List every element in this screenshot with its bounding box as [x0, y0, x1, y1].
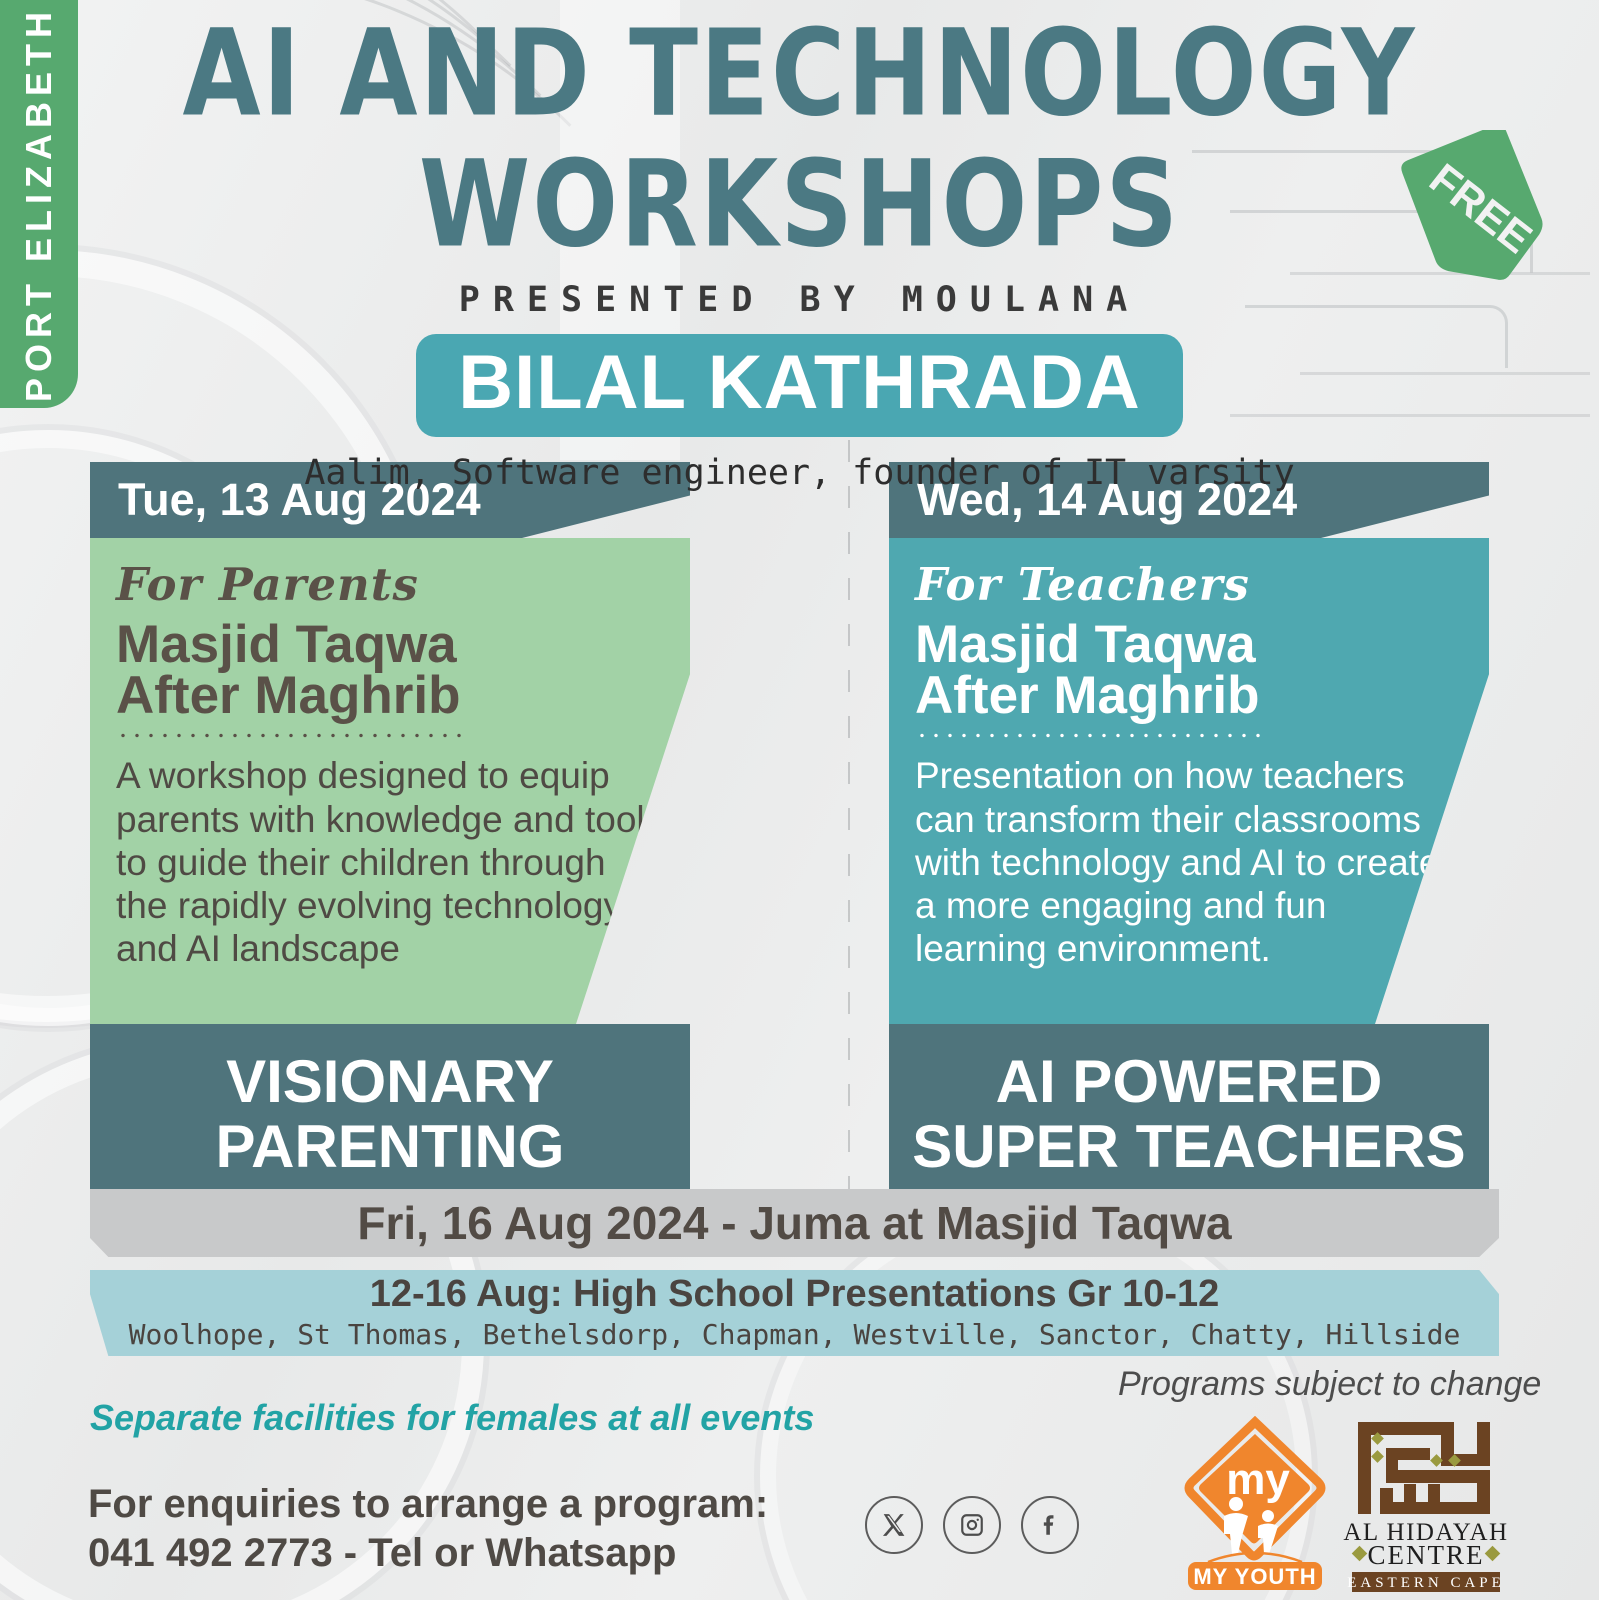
card-footer-line-1-parents: VISIONARY — [100, 1050, 680, 1115]
speaker-credentials: Aalim, Software engineer, founder of IT … — [0, 453, 1599, 493]
instagram-icon[interactable] — [943, 1496, 1001, 1554]
speaker-badge-wrap: BILAL KATHRADA — [0, 334, 1599, 437]
card-venue-line-2-teachers: After Maghrib — [915, 668, 1463, 723]
card-audience-parents: For Parents — [116, 558, 664, 611]
card-footer-parents: VISIONARY PARENTING — [90, 1024, 690, 1210]
al-hidayah-line-3: EASTERN CAPE — [1347, 1575, 1505, 1591]
separate-facilities-note: Separate facilities for females at all e… — [90, 1397, 814, 1439]
card-footer-line-1-teachers: AI POWERED — [899, 1050, 1479, 1115]
card-divider-parents — [116, 733, 471, 738]
card-body-parents: For Parents Masjid Taqwa After Maghrib A… — [90, 538, 690, 1024]
card-venue-line-2-parents: After Maghrib — [116, 668, 664, 723]
social-links — [865, 1496, 1079, 1554]
enquiry-line-2: 041 492 2773 - Tel or Whatsapp — [88, 1529, 768, 1578]
banner-juma-text: Fri, 16 Aug 2024 - Juma at Masjid Taqwa — [357, 1196, 1231, 1250]
my-youth-logo: my MY YOUTH — [1180, 1416, 1330, 1592]
x-twitter-icon[interactable] — [865, 1496, 923, 1554]
card-body-teachers: For Teachers Masjid Taqwa After Maghrib … — [889, 538, 1489, 1024]
card-venue-line-1-parents: Masjid Taqwa — [116, 617, 664, 672]
background-dashed-line — [848, 440, 850, 1200]
poster-header: AI AND TECHNOLOGY WORKSHOPS PRESENTED BY… — [0, 0, 1599, 493]
banner-school-presentations: 12-16 Aug: High School Presentations Gr … — [90, 1270, 1499, 1356]
banner-schools-headline: 12-16 Aug: High School Presentations Gr … — [370, 1275, 1220, 1315]
poster-title-line-1: AI AND TECHNOLOGY — [0, 14, 1599, 133]
card-venue-line-1-teachers: Masjid Taqwa — [915, 617, 1463, 672]
card-audience-teachers: For Teachers — [915, 558, 1463, 611]
banner-juma: Fri, 16 Aug 2024 - Juma at Masjid Taqwa — [90, 1189, 1499, 1257]
free-badge: FREE — [1392, 130, 1562, 292]
card-divider-teachers — [915, 733, 1270, 738]
poster-title-line-2: WORKSHOPS — [0, 145, 1599, 264]
card-footer-line-2-parents: PARENTING — [100, 1115, 680, 1180]
my-youth-wordmark: MY YOUTH — [1193, 1564, 1316, 1589]
programs-disclaimer: Programs subject to change — [1118, 1365, 1541, 1404]
presented-by-label: PRESENTED BY MOULANA — [0, 280, 1599, 320]
city-tab: PORT ELIZABETH — [0, 0, 78, 408]
workshop-card-teachers: Wed, 14 Aug 2024 For Teachers Masjid Taq… — [889, 462, 1489, 1210]
event-poster: PORT ELIZABETH AI AND TECHNOLOGY WORKSHO… — [0, 0, 1599, 1600]
card-description-teachers: Presentation on how teachers can transfo… — [915, 754, 1463, 970]
speaker-name-badge: BILAL KATHRADA — [416, 334, 1182, 437]
al-hidayah-centre-logo: AL HIDAYAH CENTRE EASTERN CAPE — [1340, 1412, 1512, 1592]
my-youth-mark: my — [1226, 1455, 1290, 1504]
al-hidayah-line-2: CENTRE — [1368, 1540, 1485, 1570]
banner-schools-list: Woolhope, St Thomas, Bethelsdorp, Chapma… — [129, 1318, 1461, 1352]
enquiry-line-1: For enquiries to arrange a program: — [88, 1480, 768, 1529]
card-footer-teachers: AI POWERED SUPER TEACHERS — [889, 1024, 1489, 1210]
workshop-card-parents: Tue, 13 Aug 2024 For Parents Masjid Taqw… — [90, 462, 690, 1210]
enquiry-block: For enquiries to arrange a program: 041 … — [88, 1480, 768, 1578]
card-description-parents: A workshop designed to equip parents wit… — [116, 754, 664, 970]
city-tab-label: PORT ELIZABETH — [18, 6, 60, 402]
card-footer-line-2-teachers: SUPER TEACHERS — [899, 1115, 1479, 1180]
facebook-icon[interactable] — [1021, 1496, 1079, 1554]
